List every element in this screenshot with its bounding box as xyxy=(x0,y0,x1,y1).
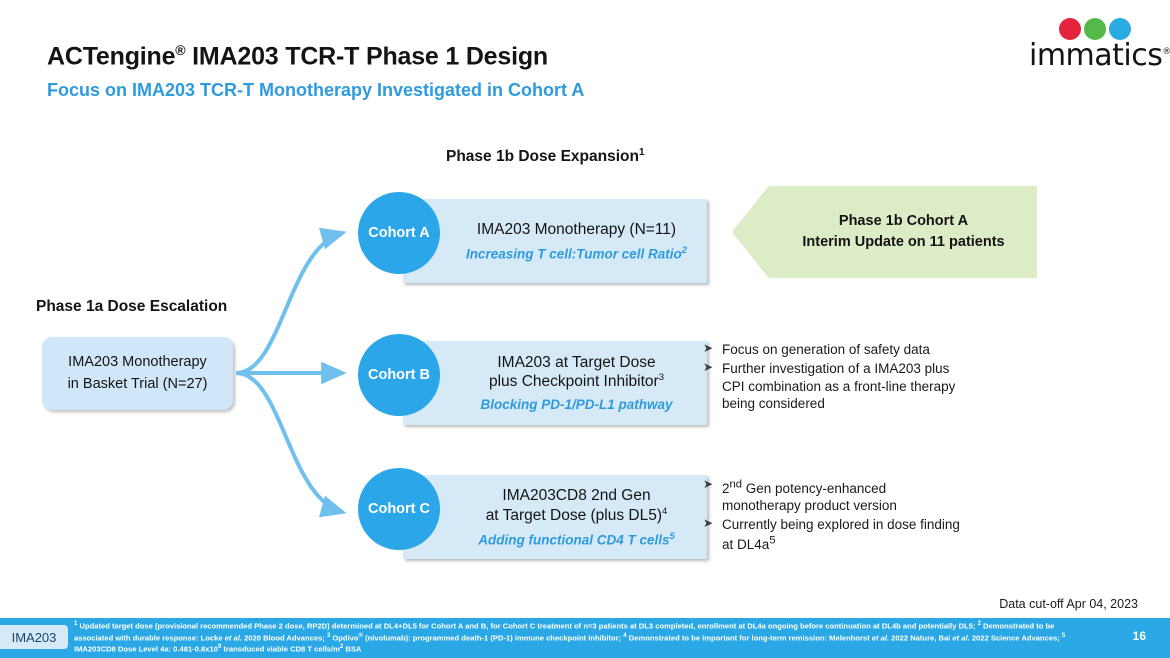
cohort-a-panel: IMA203 Monotherapy (N=11) Increasing T c… xyxy=(403,199,707,283)
logo-dot-green-icon xyxy=(1084,18,1106,40)
cohort-b-main-line2: plus Checkpoint Inhibitor xyxy=(489,373,659,390)
list-item-text: 2nd Gen potency-enhanced monotherapy pro… xyxy=(722,481,897,514)
cohort-b-main-line1: IMA203 at Target Dose xyxy=(489,353,664,373)
cohort-a-circle[interactable]: Cohort A xyxy=(358,192,440,274)
cohort-b-panel-sub: Blocking PD-1/PD-L1 pathway xyxy=(480,397,672,413)
phase1b-section-label: Phase 1b Dose Expansion1 xyxy=(446,147,645,166)
phase1a-section-label: Phase 1a Dose Escalation xyxy=(36,298,227,316)
interim-update-callout: Phase 1b Cohort A Interim Update on 11 p… xyxy=(732,186,1037,278)
page-number: 16 xyxy=(1133,629,1146,643)
callout-text: Phase 1b Cohort A Interim Update on 11 p… xyxy=(732,186,1037,278)
cohort-b-circle[interactable]: Cohort B xyxy=(358,334,440,416)
page-subtitle: Focus on IMA203 TCR-T Monotherapy Invest… xyxy=(47,80,584,101)
list-item: ➤ Further investigation of a IMA203 plus… xyxy=(703,360,963,413)
cohort-a-panel-main: IMA203 Monotherapy (N=11) xyxy=(477,220,676,240)
cohort-c-panel: IMA203CD8 2nd Gen at Target Dose (plus D… xyxy=(403,475,707,559)
phase1b-footnote-ref: 1 xyxy=(639,147,645,158)
page-title: ACTengine® IMA203 TCR-T Phase 1 Design xyxy=(47,42,548,71)
connector-to-cohort-a xyxy=(236,233,342,373)
list-item: ➤ Currently being explored in dose findi… xyxy=(703,516,963,554)
registered-mark: ® xyxy=(175,42,185,58)
bullet-arrow-icon: ➤ xyxy=(703,516,713,532)
logo-dot-blue-icon xyxy=(1109,18,1131,40)
cohort-a-panel-sub: Increasing T cell:Tumor cell Ratio2 xyxy=(466,245,687,263)
logo-registered-mark: ® xyxy=(1162,47,1170,57)
callout-line2: Interim Update on 11 patients xyxy=(802,232,1004,253)
list-item: ➤ 2nd Gen potency-enhanced monotherapy p… xyxy=(703,477,963,515)
list-item-text: Further investigation of a IMA203 plus C… xyxy=(722,361,955,412)
cohort-b-panel: IMA203 at Target Dose plus Checkpoint In… xyxy=(403,341,707,425)
cohort-c-sub-footnote-ref: 5 xyxy=(669,531,674,542)
logo-wordmark-text: immatics xyxy=(1029,38,1162,73)
cohort-c-panel-sub: Adding functional CD4 T cells5 xyxy=(478,531,675,549)
footnotes: 1 Updated target dose (provisional recom… xyxy=(74,620,1084,655)
logo-wordmark: immatics® xyxy=(1029,38,1170,73)
list-item: ➤ Focus on generation of safety data xyxy=(703,341,963,359)
cohort-c-main-footnote-ref: 4 xyxy=(662,506,667,517)
cohort-c-circle[interactable]: Cohort C xyxy=(358,468,440,550)
phase1a-box-line2: in Basket Trial (N=27) xyxy=(68,374,208,395)
cohort-a-sub-footnote-ref: 2 xyxy=(682,245,687,256)
cohort-c-main-line1: IMA203CD8 2nd Gen xyxy=(486,486,668,506)
bullet-arrow-icon: ➤ xyxy=(703,360,713,376)
bullet-arrow-icon: ➤ xyxy=(703,477,713,493)
cohort-c-main-line2-wrap: at Target Dose (plus DL5)4 xyxy=(486,506,668,526)
cohort-a-sub-text: Increasing T cell:Tumor cell Ratio xyxy=(466,246,682,261)
logo-dot-red-icon xyxy=(1059,18,1081,40)
cohort-b-panel-main: IMA203 at Target Dose plus Checkpoint In… xyxy=(489,353,664,393)
data-cutoff-label: Data cut-off Apr 04, 2023 xyxy=(999,597,1138,611)
bullet-arrow-icon: ➤ xyxy=(703,341,713,357)
list-item-text: Focus on generation of safety data xyxy=(722,342,930,357)
cohort-b-main-line2-wrap: plus Checkpoint Inhibitor3 xyxy=(489,372,664,392)
immatics-logo: immatics® xyxy=(1029,18,1137,74)
phase1b-section-label-text: Phase 1b Dose Expansion xyxy=(446,148,639,165)
cohort-b-main-footnote-ref: 3 xyxy=(659,372,664,383)
cohort-b-bullet-list: ➤ Focus on generation of safety data ➤ F… xyxy=(703,341,963,414)
cohort-a-main-line1: IMA203 Monotherapy (N=11) xyxy=(477,221,676,238)
cohort-c-panel-main: IMA203CD8 2nd Gen at Target Dose (plus D… xyxy=(486,486,668,526)
cohort-c-bullet-list: ➤ 2nd Gen potency-enhanced monotherapy p… xyxy=(703,477,963,555)
page-title-rest: IMA203 TCR-T Phase 1 Design xyxy=(185,42,548,70)
footer-program-tab[interactable]: IMA203 xyxy=(0,625,68,649)
phase1a-box-line1: IMA203 Monotherapy xyxy=(68,352,208,373)
footer-bar: IMA203 1 Updated target dose (provisiona… xyxy=(0,616,1170,658)
connector-to-cohort-c xyxy=(236,373,342,512)
phase1a-box-text: IMA203 Monotherapy in Basket Trial (N=27… xyxy=(68,352,208,394)
cohort-c-main-line2: at Target Dose (plus DL5) xyxy=(486,507,662,524)
list-item-text: Currently being explored in dose finding… xyxy=(722,517,960,552)
cohort-c-sub-text: Adding functional CD4 T cells xyxy=(478,532,669,547)
footer-divider xyxy=(0,616,1170,618)
callout-line1: Phase 1b Cohort A xyxy=(839,211,968,232)
page-title-main: ACTengine xyxy=(47,42,175,70)
phase1a-box: IMA203 Monotherapy in Basket Trial (N=27… xyxy=(42,337,233,410)
